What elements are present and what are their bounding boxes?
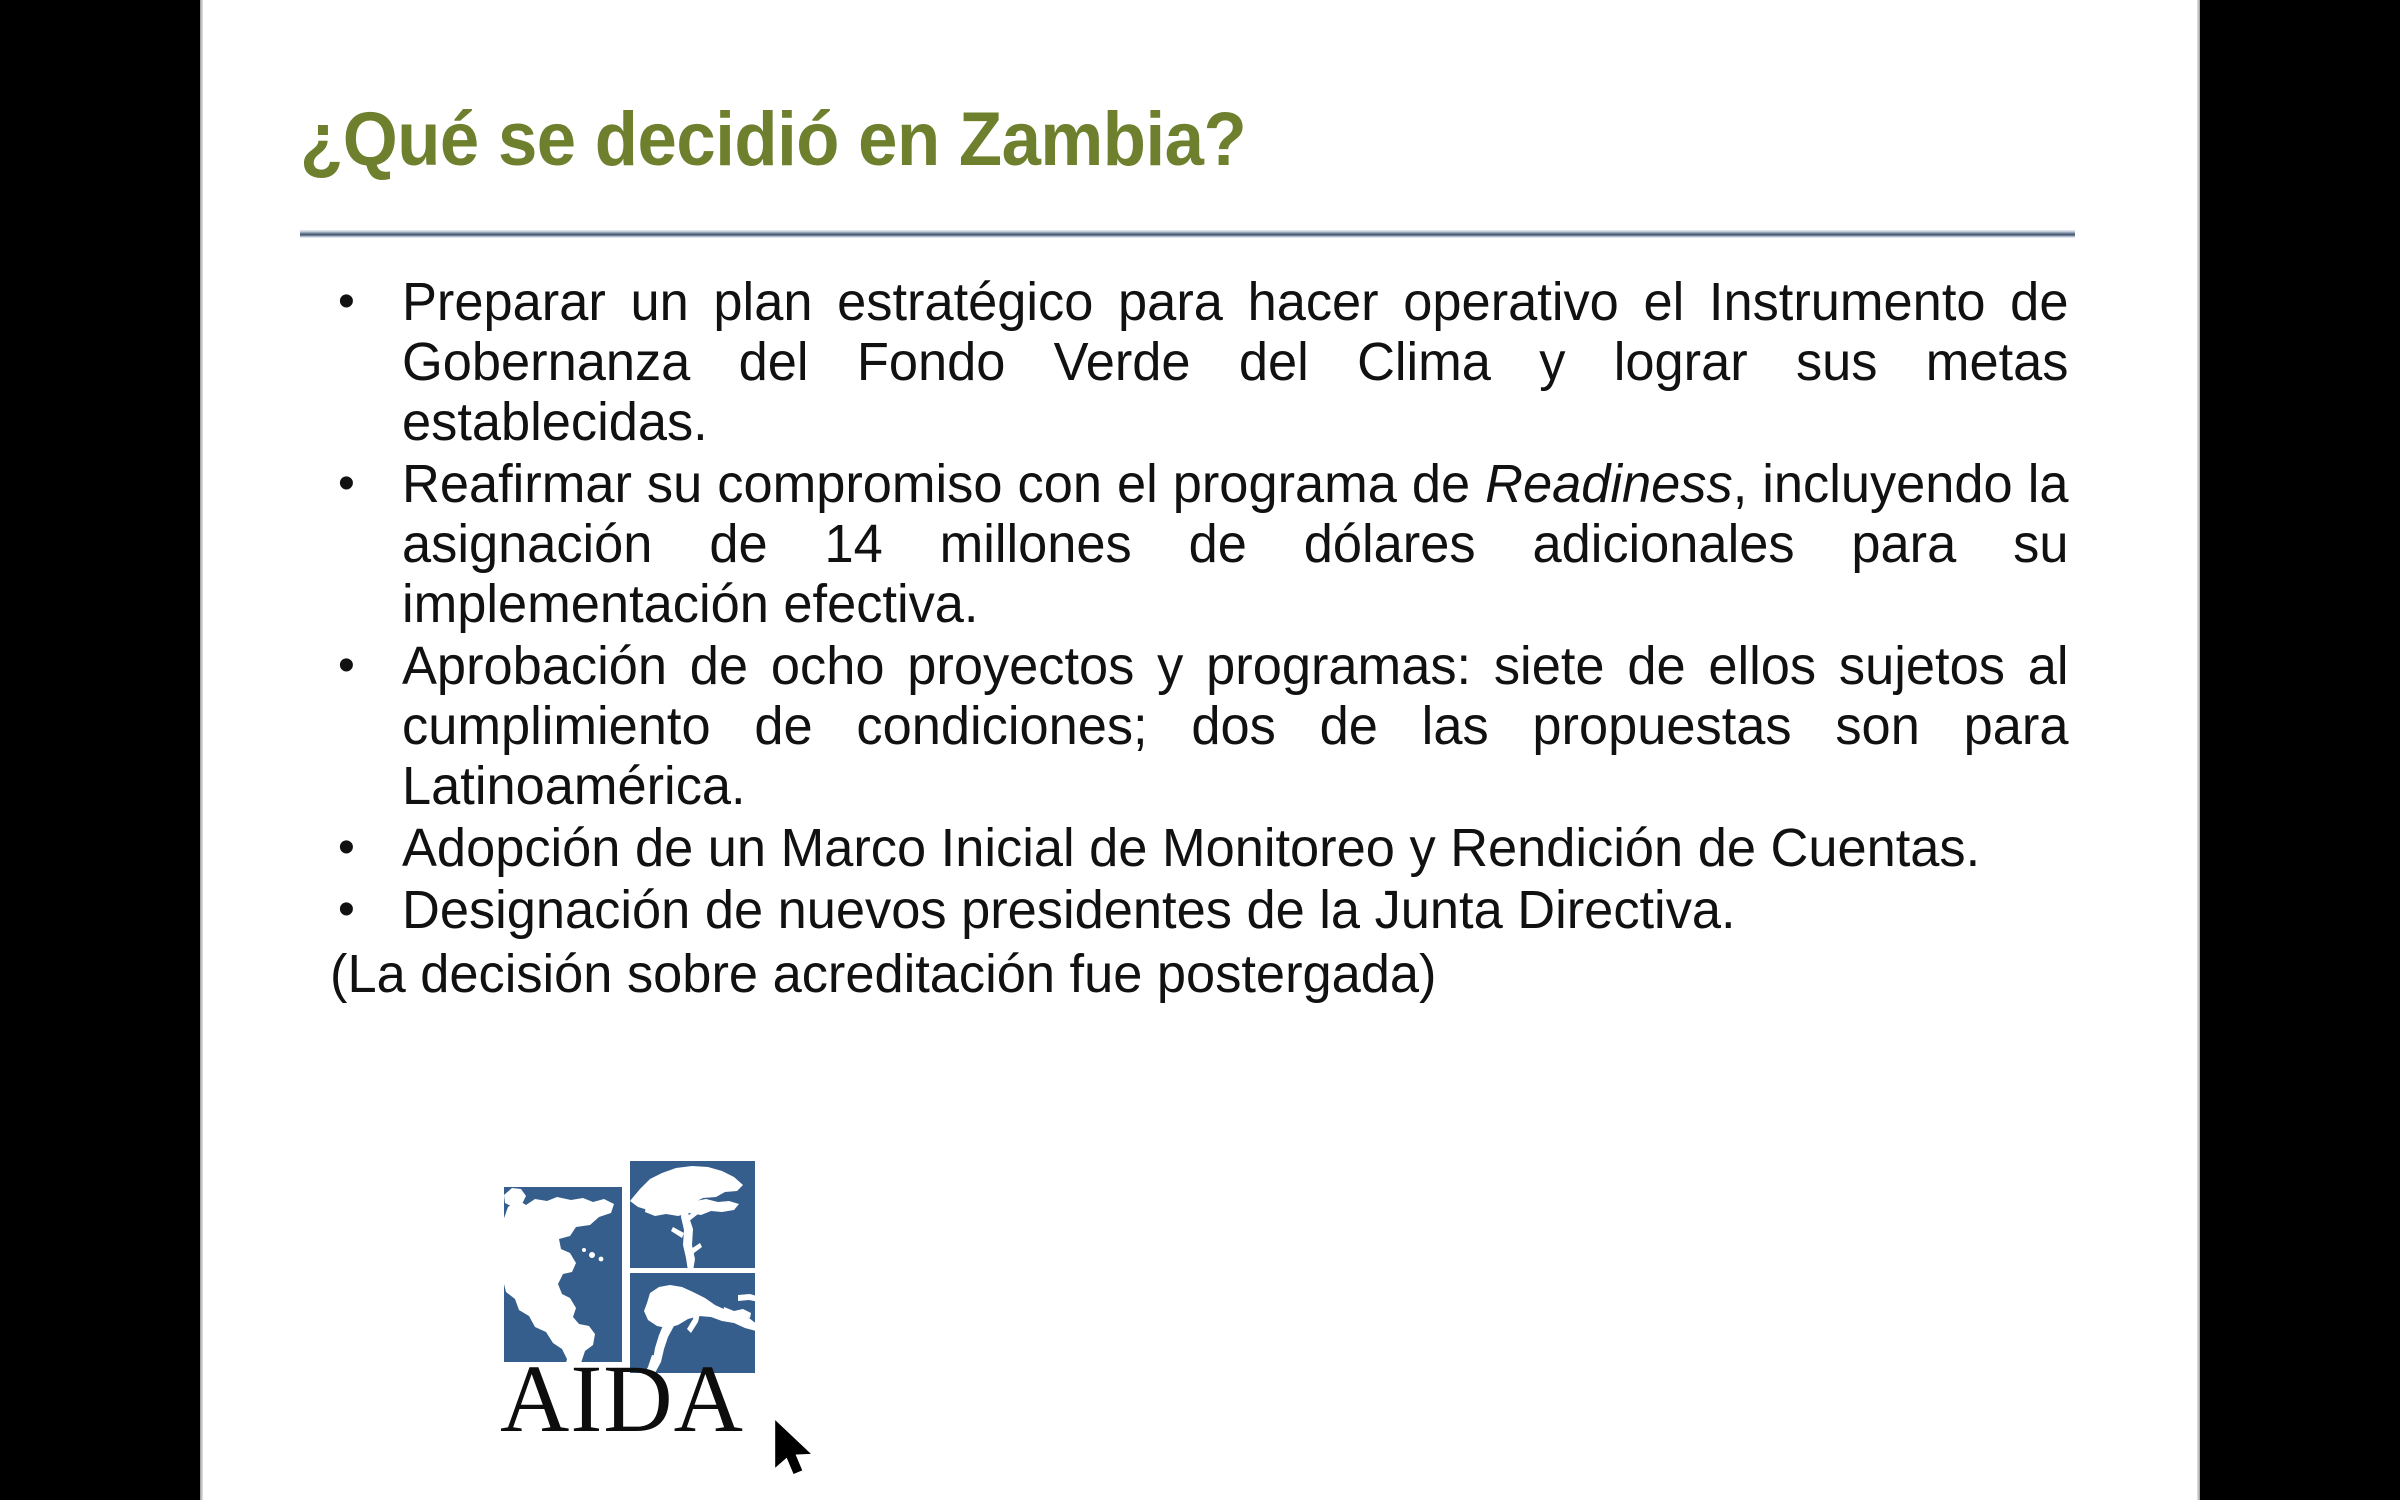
letterbox-bar-left — [0, 0, 200, 1500]
bullet-text-emphasis: Readiness — [1485, 454, 1733, 514]
slide-edge-seam-left — [200, 0, 203, 1500]
bullet-marker-icon: • — [330, 880, 402, 940]
slide-bullet-list: • Preparar un plan estratégico para hace… — [330, 272, 2120, 1004]
bullet-text: Preparar un plan estratégico para hacer … — [402, 272, 2068, 452]
slide-edge-seam-right — [2197, 0, 2200, 1500]
bullet-item-readiness: • Reafirmar su compromiso con el program… — [330, 454, 2120, 634]
bullet-marker-icon: • — [330, 454, 402, 514]
aida-logo: AIDA — [500, 1155, 790, 1435]
bullet-text: Designación de nuevos presidentes de la … — [402, 880, 2068, 940]
bullet-text: Reafirmar su compromiso con el programa … — [402, 454, 2068, 634]
bullet-marker-icon: • — [330, 818, 402, 878]
letterbox-bar-right — [2200, 0, 2400, 1500]
title-divider-rule — [300, 230, 2075, 238]
bullet-item-marco-inicial: • Adopción de un Marco Inicial de Monito… — [330, 818, 2120, 878]
bullet-text: Aprobación de ocho proyectos y programas… — [402, 636, 2068, 816]
slide-title: ¿Qué se decidió en Zambia? — [300, 96, 1246, 183]
bullet-text-pre: Reafirmar su compromiso con el programa … — [402, 454, 1485, 514]
slide-note: (La decisión sobre acreditación fue post… — [330, 944, 2066, 1004]
bullet-item-plan-estrategico: • Preparar un plan estratégico para hace… — [330, 272, 2120, 452]
aida-wordmark: AIDA — [500, 1351, 790, 1447]
bullet-marker-icon: • — [330, 636, 402, 696]
bullet-marker-icon: • — [330, 272, 402, 332]
bullet-item-aprobacion-proyectos: • Aprobación de ocho proyectos y program… — [330, 636, 2120, 816]
bullet-text: Adopción de un Marco Inicial de Monitore… — [402, 818, 2068, 878]
bullet-item-presidentes-junta: • Designación de nuevos presidentes de l… — [330, 880, 2120, 940]
slide-canvas: ¿Qué se decidió en Zambia? • Preparar un… — [200, 0, 2200, 1500]
presentation-viewport: ¿Qué se decidió en Zambia? • Preparar un… — [0, 0, 2400, 1500]
